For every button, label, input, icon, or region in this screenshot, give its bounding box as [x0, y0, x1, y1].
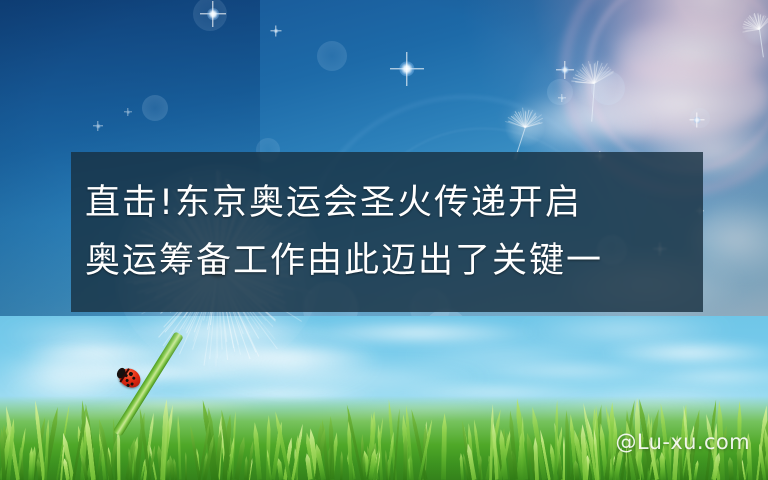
light-sparkle [690, 113, 705, 128]
wispy-cloud [600, 340, 768, 366]
watermark: @Lu-xu.com [616, 430, 750, 454]
light-sparkle [271, 26, 282, 37]
headline-line-1: 直击!东京奥运会圣火传递开启 [85, 174, 582, 232]
light-sparkle [558, 94, 566, 102]
light-sparkle [93, 121, 103, 131]
light-sparkle [124, 108, 132, 116]
light-sparkle [390, 52, 424, 86]
bokeh-circle [317, 41, 347, 71]
cumulus-cloud [0, 350, 120, 398]
light-sparkle [200, 1, 226, 27]
cover-image: 直击!东京奥运会圣火传递开启 奥运筹备工作由此迈出了关键一 @Lu-xu.com [0, 0, 768, 480]
wispy-cloud [640, 366, 768, 386]
bokeh-circle [142, 95, 168, 121]
headline-overlay-band: 直击!东京奥运会圣火传递开启 奥运筹备工作由此迈出了关键一 [71, 152, 703, 312]
headline-line-2: 奥运筹备工作由此迈出了关键一 [85, 232, 603, 290]
